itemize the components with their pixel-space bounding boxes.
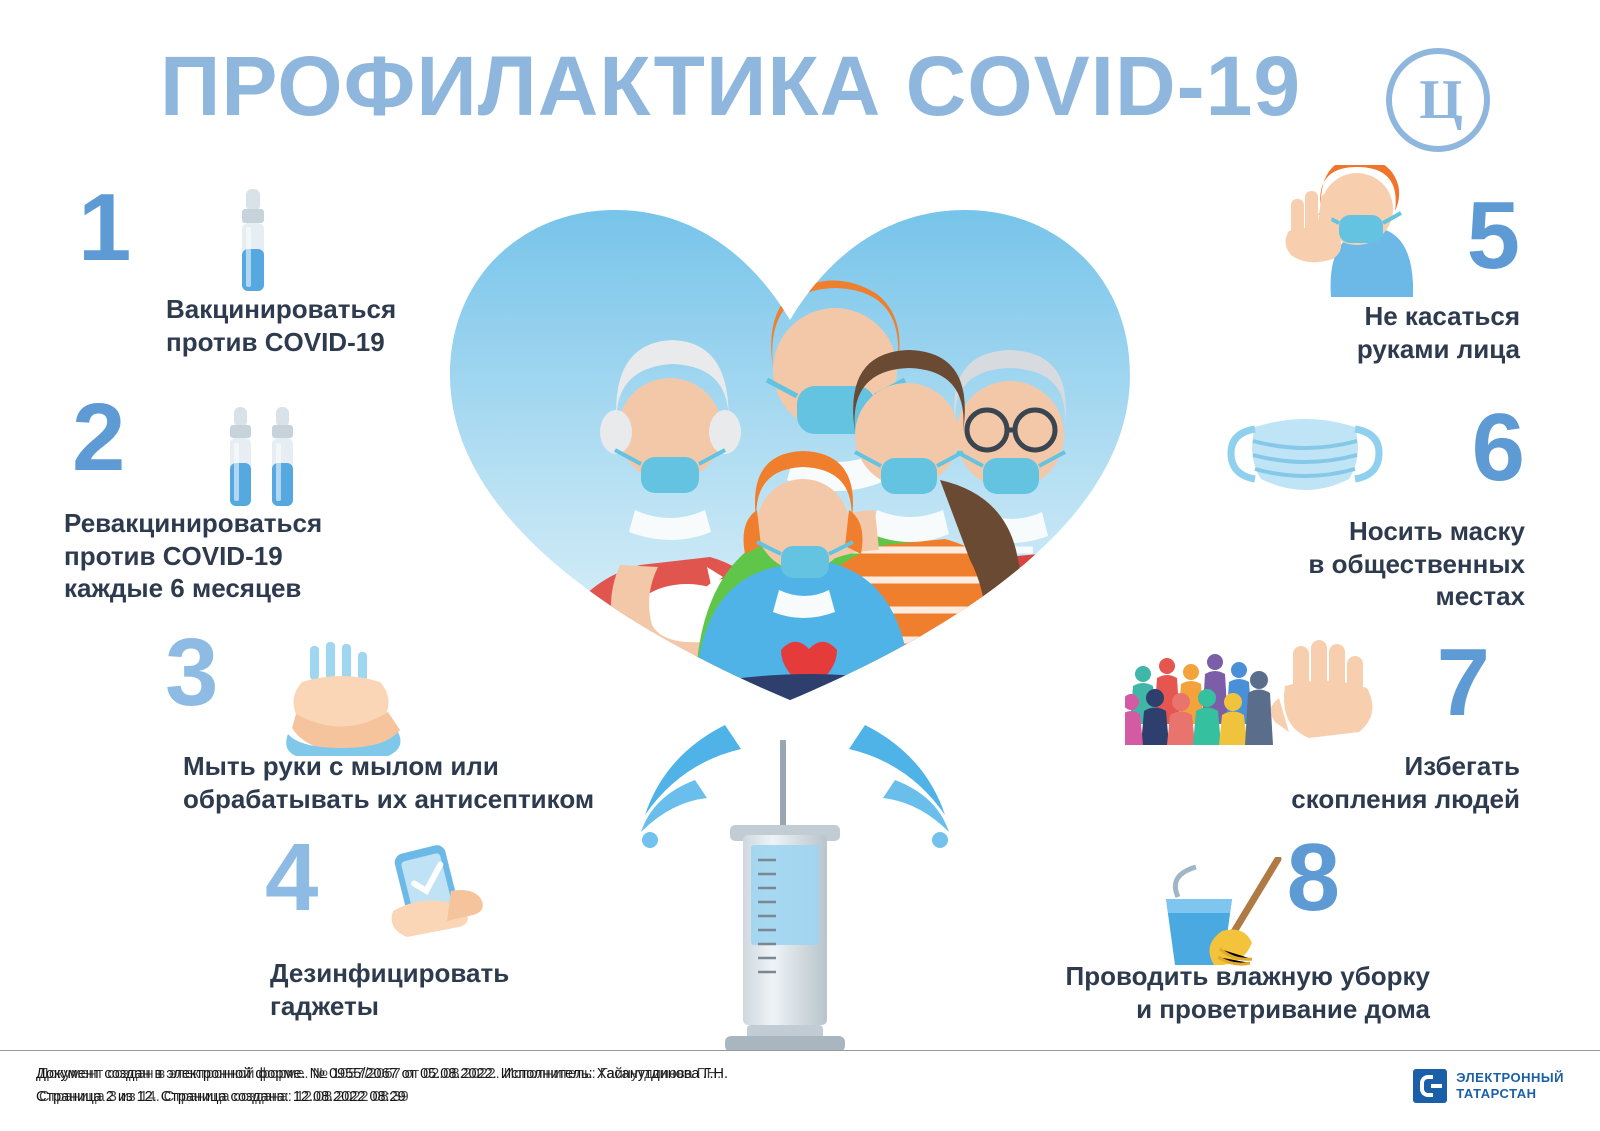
- tip-text-6: Носить маску в общественных местах: [1235, 515, 1525, 613]
- tip-text-7: Избегать скопления людей: [1130, 750, 1520, 815]
- footer-line-1-overlay: Документ создан в электронной форме. № 1…: [39, 1063, 721, 1086]
- organization-logo-icon: Ц: [1386, 48, 1490, 152]
- page-title: ПРОФИЛАКТИКА COVID-19: [160, 38, 1410, 135]
- tip-text-2: Ревакцинироваться против COVID-19 каждые…: [64, 507, 409, 605]
- footer-line-2-overlay: Страница 3 из 14. Страница создана: 12.0…: [39, 1086, 409, 1109]
- footer-text: Документ создан в электронной форме. № 0…: [36, 1063, 728, 1109]
- tip-text-8: Проводить влажную уборку и проветривание…: [920, 960, 1430, 1025]
- brand-line-2: ТАТАРСТАН: [1456, 1086, 1564, 1102]
- logo-letter: Ц: [1419, 68, 1457, 132]
- avoid-crowd-icon: [1125, 640, 1400, 755]
- electronic-tatarstan-logo: ЭЛЕКТРОННЫЙ ТАТАРСТАН: [1413, 1069, 1564, 1103]
- tip-number-7: 7: [1437, 640, 1490, 726]
- disinfect-phone-icon: [375, 845, 495, 962]
- tip-number-4: 4: [265, 835, 318, 921]
- vaccine-ampoule-icon: [230, 187, 276, 302]
- tip-number-2: 2: [72, 395, 125, 481]
- tip-text-1: Вакцинироваться против COVID-19: [166, 293, 466, 358]
- electronic-tatarstan-label: ЭЛЕКТРОННЫЙ ТАТАРСТАН: [1456, 1070, 1564, 1103]
- footer-line-2: Страница 2 из 12. Страница создана: 12.0…: [36, 1086, 728, 1109]
- bucket-mop-icon: [1160, 857, 1340, 977]
- tip-number-5: 5: [1467, 193, 1520, 279]
- tip-text-3: Мыть руки с мылом или обрабатывать их ан…: [183, 750, 688, 815]
- electronic-tatarstan-mark-icon: [1413, 1069, 1447, 1103]
- brand-line-1: ЭЛЕКТРОННЫЙ: [1456, 1070, 1564, 1086]
- poster-canvas: ПРОФИЛАКТИКА COVID-19 Ц: [0, 0, 1600, 1050]
- washing-hands-icon: [280, 642, 405, 762]
- tip-number-6: 6: [1472, 405, 1525, 491]
- tip-number-1: 1: [78, 185, 131, 271]
- family-heart-syringe-illustration: [395, 180, 1185, 1050]
- medical-mask-icon: [1225, 403, 1385, 508]
- two-ampoules-icon: [222, 405, 308, 518]
- tip-number-3: 3: [165, 630, 218, 716]
- do-not-touch-face-icon: [1285, 165, 1413, 302]
- tip-text-5: Не касаться руками лица: [1270, 300, 1520, 365]
- footer-line-1: Документ создан в электронной форме. № 0…: [36, 1063, 728, 1086]
- tip-text-4: Дезинфицировать гаджеты: [270, 957, 690, 1022]
- document-footer: Документ создан в электронной форме. № 0…: [0, 1050, 1600, 1131]
